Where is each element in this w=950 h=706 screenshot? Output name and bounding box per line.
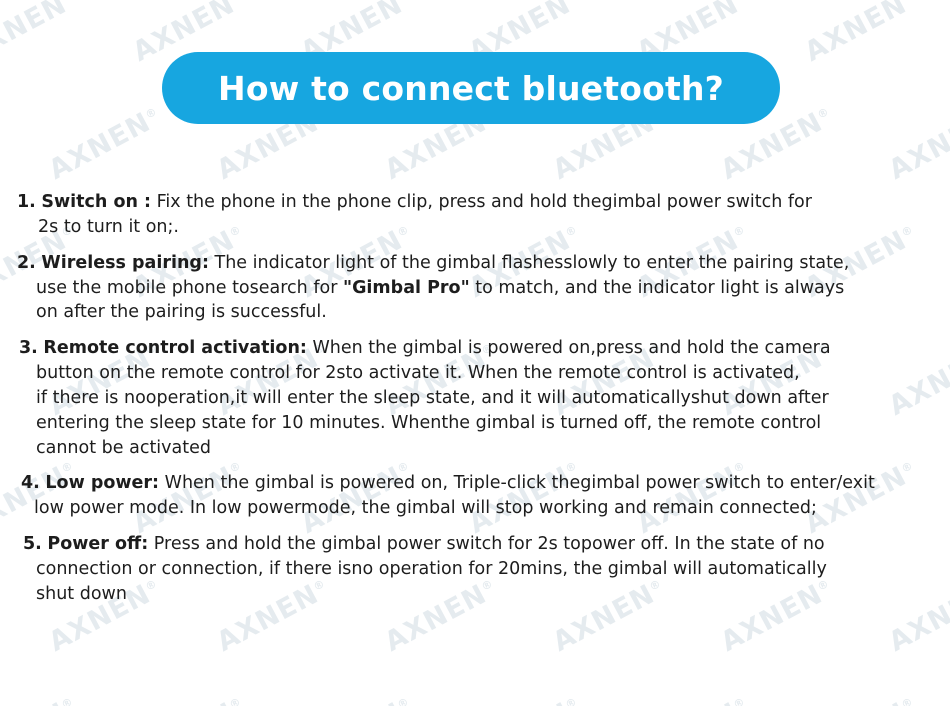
step-3-number: 3. [19, 338, 38, 358]
step-2-line-2: use the mobile phone tosearch for "Gimba… [22, 276, 950, 301]
step-2-label: Wireless pairing: [41, 253, 209, 273]
watermark-text: AXNEN® [464, 691, 587, 706]
watermark-text: AXNEN® [128, 691, 251, 706]
step-1-label: Switch on : [41, 192, 151, 212]
step-4-line-2: low power mode. In low powermode, the gi… [26, 496, 950, 521]
step-1-line-1: Fix the phone in the phone clip, press a… [157, 192, 812, 212]
step-2-line-1: The indicator light of the gimbal flashe… [215, 253, 850, 273]
watermark-text: AXNEN® [800, 0, 923, 68]
step-2-device-name: "Gimbal Pro" [343, 278, 470, 298]
step-2-line-2-pre: use the mobile phone tosearch for [36, 278, 343, 298]
step-4-number: 4. [21, 473, 40, 493]
watermark-text: AXNEN® [0, 691, 82, 706]
step-4-line-1: When the gimbal is powered on, Triple-cl… [165, 473, 875, 493]
step-3-line-5: cannot be activated [24, 436, 950, 461]
step-2-line-2-post: to match, and the indicator light is alw… [470, 278, 845, 298]
instruction-step-2: 2. Wireless pairing: The indicator light… [0, 251, 950, 326]
step-5-line-1: Press and hold the gimbal power switch f… [154, 534, 825, 554]
instruction-list: 1. Switch on : Fix the phone in the phon… [0, 190, 950, 618]
instruction-step-3: 3. Remote control activation: When the g… [0, 336, 950, 460]
step-4-label: Low power: [45, 473, 159, 493]
step-3-line-1: When the gimbal is powered on,press and … [312, 338, 830, 358]
step-2-line-3: on after the pairing is successful. [22, 300, 950, 325]
step-1-line-2: 2s to turn it on;. [22, 215, 950, 240]
instruction-step-1: 1. Switch on : Fix the phone in the phon… [0, 190, 950, 240]
step-1-number: 1. [17, 192, 36, 212]
step-5-label: Power off: [47, 534, 148, 554]
step-5-line-2: connection or connection, if there isno … [28, 557, 950, 582]
page-title: How to connect bluetooth? [218, 69, 724, 108]
watermark-text: AXNEN® [632, 691, 755, 706]
step-3-label: Remote control activation: [43, 338, 307, 358]
watermark-text: AXNEN® [800, 691, 923, 706]
step-3-line-2: button on the remote control for 2sto ac… [24, 361, 950, 386]
title-banner: How to connect bluetooth? [162, 52, 780, 124]
watermark-text: AXNEN® [884, 101, 950, 186]
watermark-text: AXNEN® [44, 101, 167, 186]
step-3-line-3: if there is nooperation,it will enter th… [24, 386, 950, 411]
instruction-step-4: 4. Low power: When the gimbal is powered… [0, 471, 950, 521]
watermark-text: AXNEN® [296, 691, 419, 706]
step-2-number: 2. [17, 253, 36, 273]
step-5-line-3: shut down [28, 582, 950, 607]
step-3-line-4: entering the sleep state for 10 minutes.… [24, 411, 950, 436]
step-5-number: 5. [23, 534, 42, 554]
watermark-text: AXNEN® [0, 0, 82, 68]
instruction-step-5: 5. Power off: Press and hold the gimbal … [0, 532, 950, 607]
